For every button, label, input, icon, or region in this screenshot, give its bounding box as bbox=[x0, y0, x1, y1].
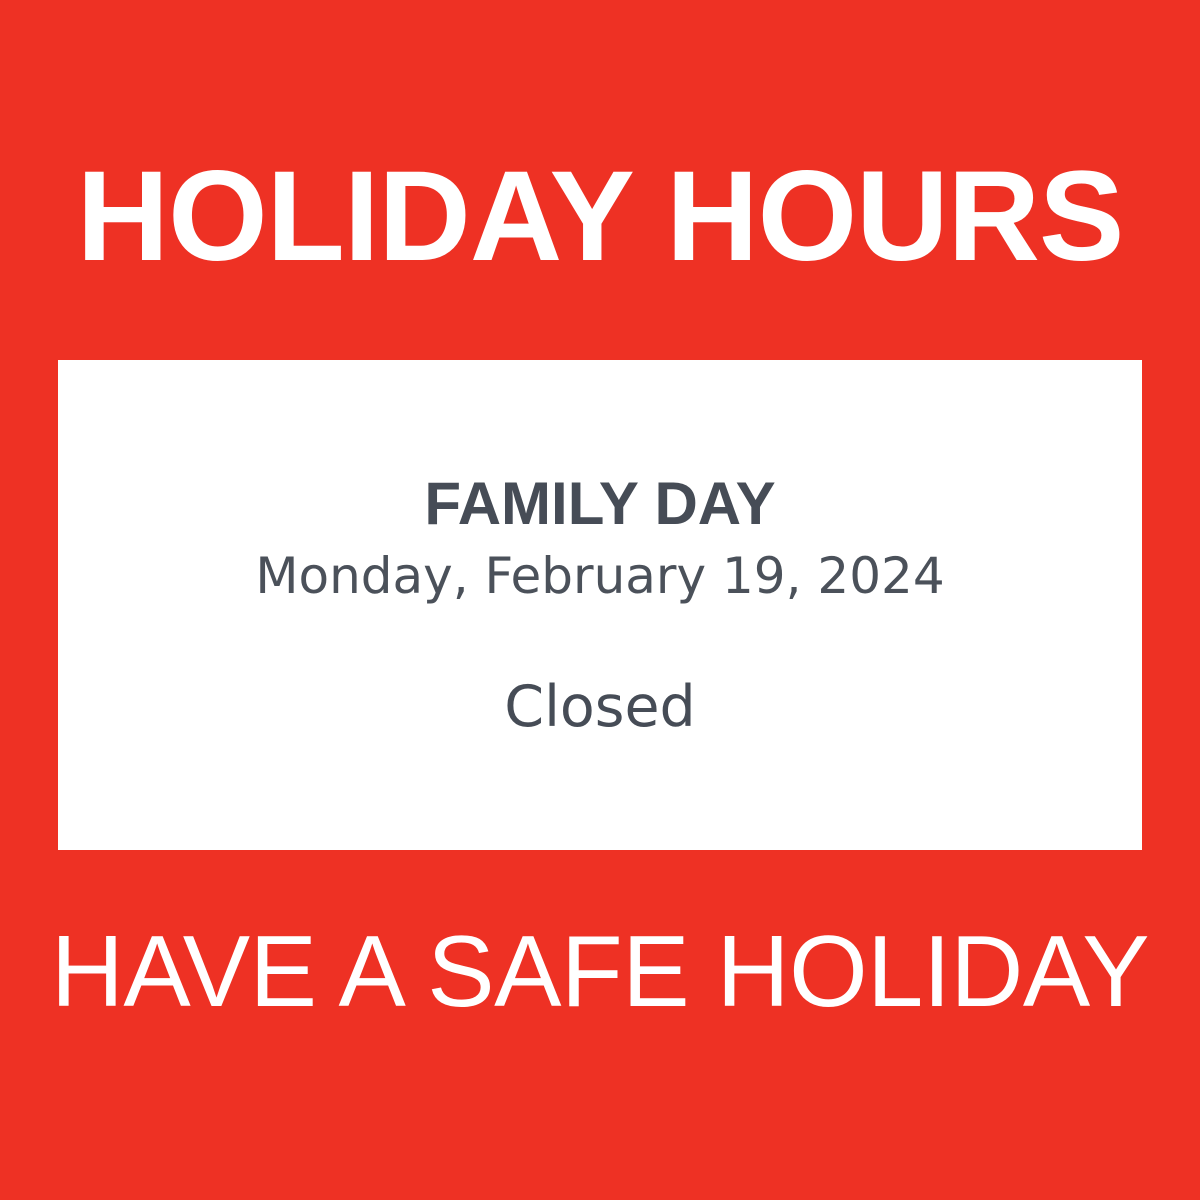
status-badge: Closed bbox=[504, 676, 695, 739]
page-title: HOLIDAY HOURS bbox=[0, 153, 1200, 281]
holiday-hours-notice: HOLIDAY HOURS FAMILY DAY Monday, Februar… bbox=[0, 0, 1200, 1200]
holiday-name: FAMILY DAY bbox=[424, 472, 775, 535]
footer-message: HAVE A SAFE HOLIDAY bbox=[0, 922, 1200, 1023]
holiday-date: Monday, February 19, 2024 bbox=[255, 549, 944, 604]
holiday-detail-card: FAMILY DAY Monday, February 19, 2024 Clo… bbox=[58, 360, 1142, 850]
